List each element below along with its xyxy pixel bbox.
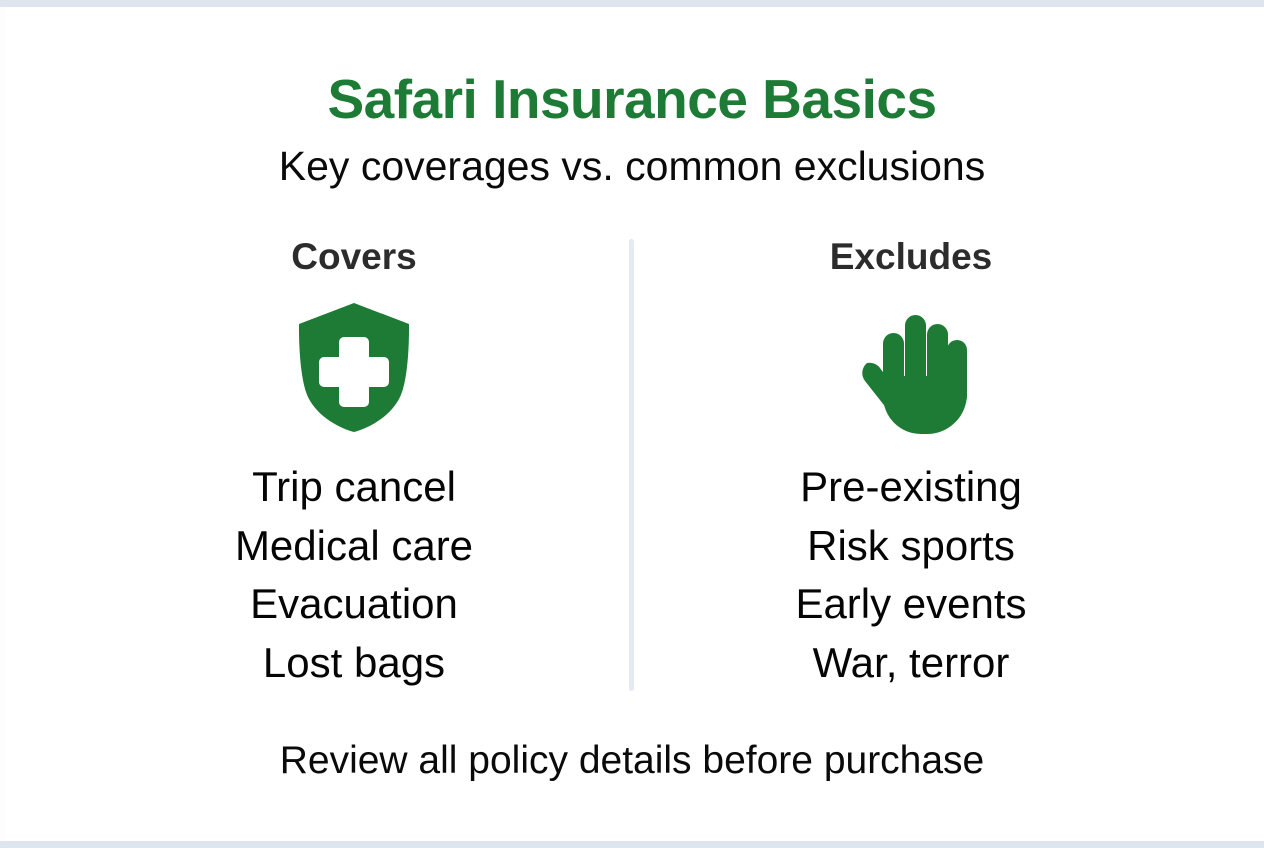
shield-plus-icon bbox=[296, 302, 412, 438]
excludes-column: Excludes Pre- bbox=[651, 235, 1171, 692]
list-item: Pre-existing bbox=[651, 458, 1171, 517]
list-item: War, terror bbox=[651, 634, 1171, 693]
list-item: Trip cancel bbox=[94, 458, 614, 517]
page-title: Safari Insurance Basics bbox=[0, 70, 1264, 129]
covers-column-header: Covers bbox=[94, 235, 614, 279]
covers-column: Covers Trip cancel Medical care Evacuati… bbox=[94, 235, 614, 692]
page-subtitle: Key coverages vs. common exclusions bbox=[0, 144, 1264, 189]
comparison-columns: Covers Trip cancel Medical care Evacuati… bbox=[0, 235, 1264, 695]
covers-icon-wrap bbox=[94, 295, 614, 445]
stop-hand-icon bbox=[855, 302, 967, 439]
list-item: Lost bags bbox=[94, 634, 614, 693]
list-item: Early events bbox=[651, 575, 1171, 634]
column-divider bbox=[629, 239, 634, 691]
list-item: Evacuation bbox=[94, 575, 614, 634]
list-item: Medical care bbox=[94, 517, 614, 576]
excludes-items-list: Pre-existing Risk sports Early events Wa… bbox=[651, 458, 1171, 692]
covers-items-list: Trip cancel Medical care Evacuation Lost… bbox=[94, 458, 614, 692]
excludes-icon-wrap bbox=[651, 295, 1171, 445]
footer-note: Review all policy details before purchas… bbox=[0, 738, 1264, 785]
excludes-column-header: Excludes bbox=[651, 235, 1171, 279]
list-item: Risk sports bbox=[651, 517, 1171, 576]
slide-canvas: Safari Insurance Basics Key coverages vs… bbox=[0, 0, 1264, 848]
